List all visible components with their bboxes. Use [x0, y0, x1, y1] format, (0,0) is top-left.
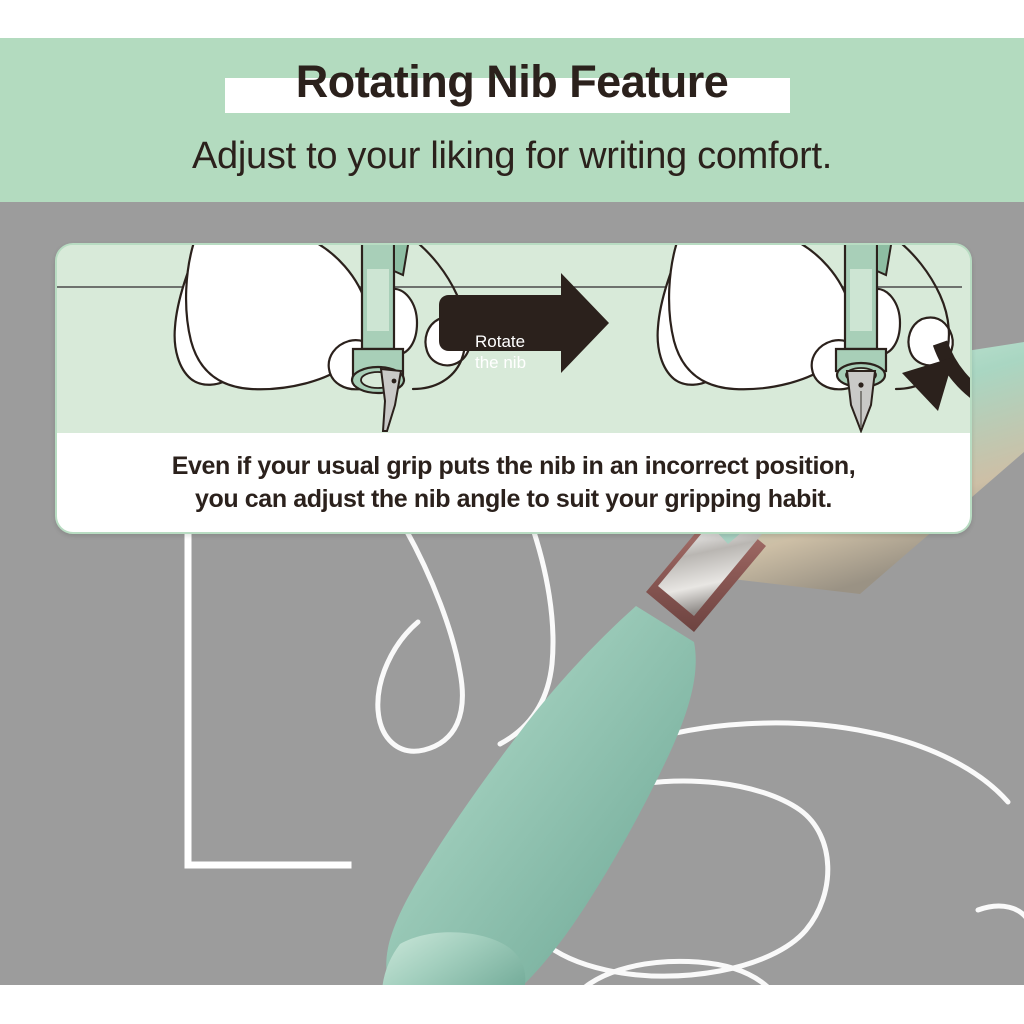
page-title: Rotating Nib Feature: [296, 57, 729, 107]
caption-line-2: you can adjust the nib angle to suit you…: [195, 483, 832, 516]
card-illustration-area: Rotate the nib: [57, 245, 970, 433]
caption-line-1: Even if your usual grip puts the nib in …: [172, 450, 856, 483]
arrow-label-line1: Rotate: [475, 331, 525, 352]
bottom-margin: [0, 985, 1024, 1024]
right-hand-illustration: [658, 245, 953, 389]
page-root: Rotating Nib Feature Adjust to your liki…: [0, 0, 1024, 1024]
page-subtitle: Adjust to your liking for writing comfor…: [0, 131, 1024, 181]
card-caption: Even if your usual grip puts the nib in …: [57, 433, 970, 532]
page-title-wrap: Rotating Nib Feature: [0, 50, 1024, 114]
arrow-label-line2: the nib: [475, 352, 526, 373]
rotating-nib-callout-card: Rotate the nib Even if your usual grip p…: [55, 243, 972, 534]
left-hand-illustration: [175, 245, 470, 389]
